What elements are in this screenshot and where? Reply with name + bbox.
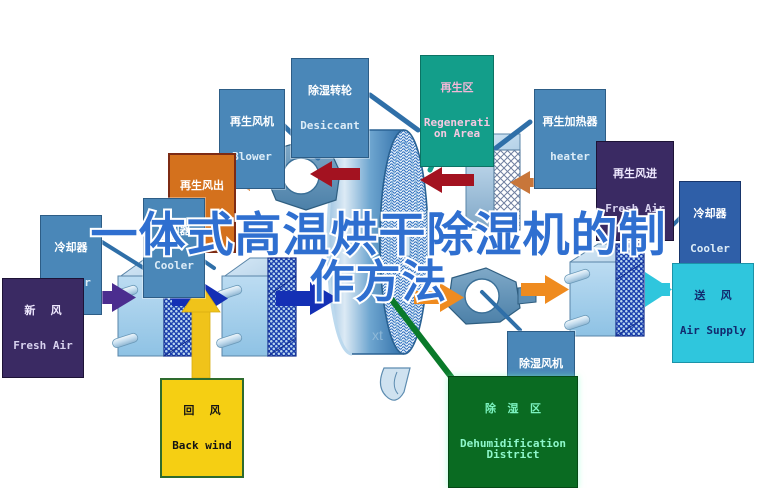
- label-cooler-left-2-en: Cooler: [146, 260, 202, 272]
- label-back-wind[interactable]: 回 风 Back wind: [160, 378, 244, 478]
- label-cooler-left-2[interactable]: 冷却器 Cooler: [143, 198, 205, 298]
- label-desiccant-wheel-en: Desiccant: [294, 120, 366, 132]
- schematic-svg: xt: [0, 0, 757, 488]
- label-regen-blower-cn: 再生风机: [222, 116, 282, 128]
- label-fresh-air-in-cn: 新 风: [5, 305, 81, 317]
- label-regen-heater-en: heater: [537, 151, 603, 163]
- label-air-supply-en: Air Supply: [675, 325, 751, 337]
- label-regen-fresh-air[interactable]: 再生风进 Fresh Air: [596, 141, 674, 241]
- label-dehum-district-cn: 除 湿 区: [451, 403, 575, 415]
- label-regen-area-cn: 再生区: [423, 82, 491, 94]
- label-dehum-blower-cn: 除湿风机: [510, 358, 572, 370]
- label-back-wind-en: Back wind: [164, 440, 240, 452]
- wheel-watermark: xt: [372, 327, 383, 343]
- label-air-supply-cn: 送 风: [675, 290, 751, 302]
- label-cooler-left-1-cn: 冷却器: [43, 242, 99, 254]
- label-back-wind-cn: 回 风: [164, 405, 240, 417]
- label-dehum-district-en: Dehumidification District: [451, 438, 575, 461]
- label-desiccant-wheel[interactable]: 除湿转轮 Desiccant: [291, 58, 369, 158]
- label-cooler-right-cn: 冷却器: [682, 208, 738, 220]
- label-regen-fresh-air-en: Fresh Air: [599, 203, 671, 215]
- label-regen-fresh-air-cn: 再生风进: [599, 168, 671, 180]
- label-regen-heater-cn: 再生加热器: [537, 116, 603, 128]
- label-desiccant-wheel-cn: 除湿转轮: [294, 85, 366, 97]
- diagram-canvas: xt: [0, 0, 757, 488]
- label-dehum-district[interactable]: 除 湿 区 Dehumidification District: [448, 376, 578, 488]
- condensate-drain: [380, 368, 410, 400]
- label-cooler-right-en: Cooler: [682, 243, 738, 255]
- cooler-coil-3: [563, 244, 644, 336]
- label-regen-area[interactable]: 再生区 Regenerati on Area: [420, 55, 494, 167]
- label-fresh-air-in-en: Fresh Air: [5, 340, 81, 352]
- label-regen-exhaust-cn: 再生风出: [172, 180, 232, 192]
- label-air-supply[interactable]: 送 风 Air Supply: [672, 263, 754, 363]
- label-fresh-air-in[interactable]: 新 风 Fresh Air: [2, 278, 84, 378]
- arrow-supply-out: [645, 272, 672, 307]
- desiccant-rotor-wheel: xt: [328, 130, 428, 354]
- label-cooler-left-2-cn: 冷却器: [146, 225, 202, 237]
- label-regen-area-en: Regenerati on Area: [423, 117, 491, 140]
- cooler-coil-2: [215, 258, 296, 356]
